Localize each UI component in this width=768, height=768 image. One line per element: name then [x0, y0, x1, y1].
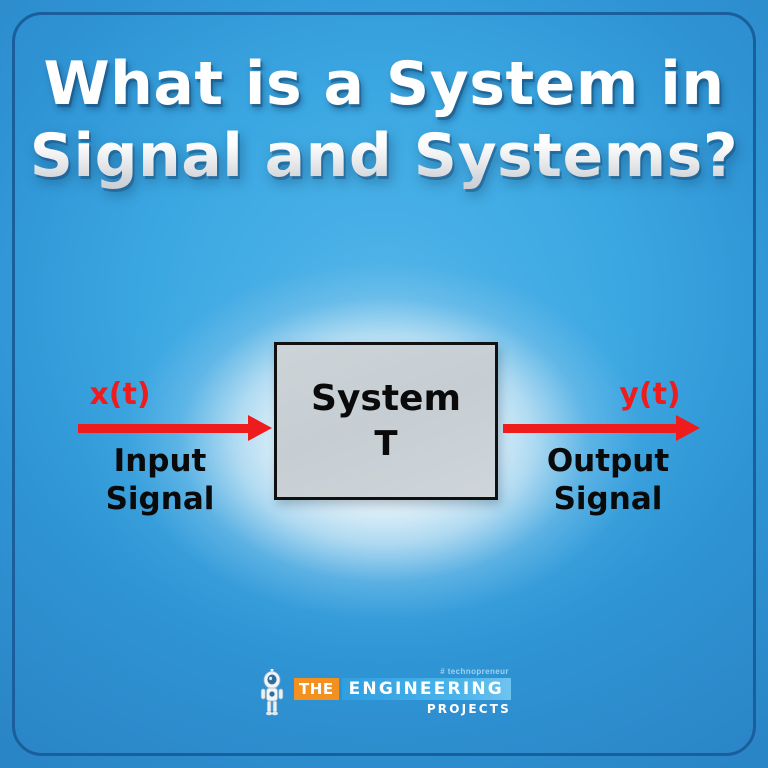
output-signal-caption: Output Signal — [518, 442, 698, 518]
system-block-diagram: x(t) Input Signal System T y(t) Output S… — [0, 0, 768, 768]
input-arrow — [78, 415, 272, 441]
brand-logo: # technopreneur THE ENGINEERING PROJECTS — [0, 665, 768, 716]
poster-canvas: What is a System in Signal and Systems? … — [0, 0, 768, 768]
input-variable-label: x(t) — [60, 378, 180, 412]
output-caption-line-2: Signal — [518, 480, 698, 518]
system-block: System T — [274, 342, 498, 500]
brand-word-projects: PROJECTS — [294, 702, 511, 716]
output-arrow-head — [676, 415, 700, 441]
robot-mascot-icon — [257, 669, 287, 716]
output-variable-label: y(t) — [590, 378, 710, 412]
brand-badge-the: THE — [294, 678, 339, 700]
output-caption-line-1: Output — [518, 442, 698, 480]
brand-badge-engineering: ENGINEERING — [342, 678, 511, 700]
brand-tagline: # technopreneur — [294, 667, 509, 676]
input-caption-line-1: Input — [70, 442, 250, 480]
system-block-operator: T — [374, 422, 397, 466]
input-signal-caption: Input Signal — [70, 442, 250, 518]
output-arrow-shaft — [503, 424, 678, 433]
brand-primary-row: THE ENGINEERING — [294, 678, 511, 700]
system-block-title: System — [311, 376, 461, 422]
input-arrow-head — [248, 415, 272, 441]
input-arrow-shaft — [78, 424, 250, 433]
input-caption-line-2: Signal — [70, 480, 250, 518]
brand-wordmark: # technopreneur THE ENGINEERING PROJECTS — [294, 665, 511, 716]
output-arrow — [503, 415, 700, 441]
